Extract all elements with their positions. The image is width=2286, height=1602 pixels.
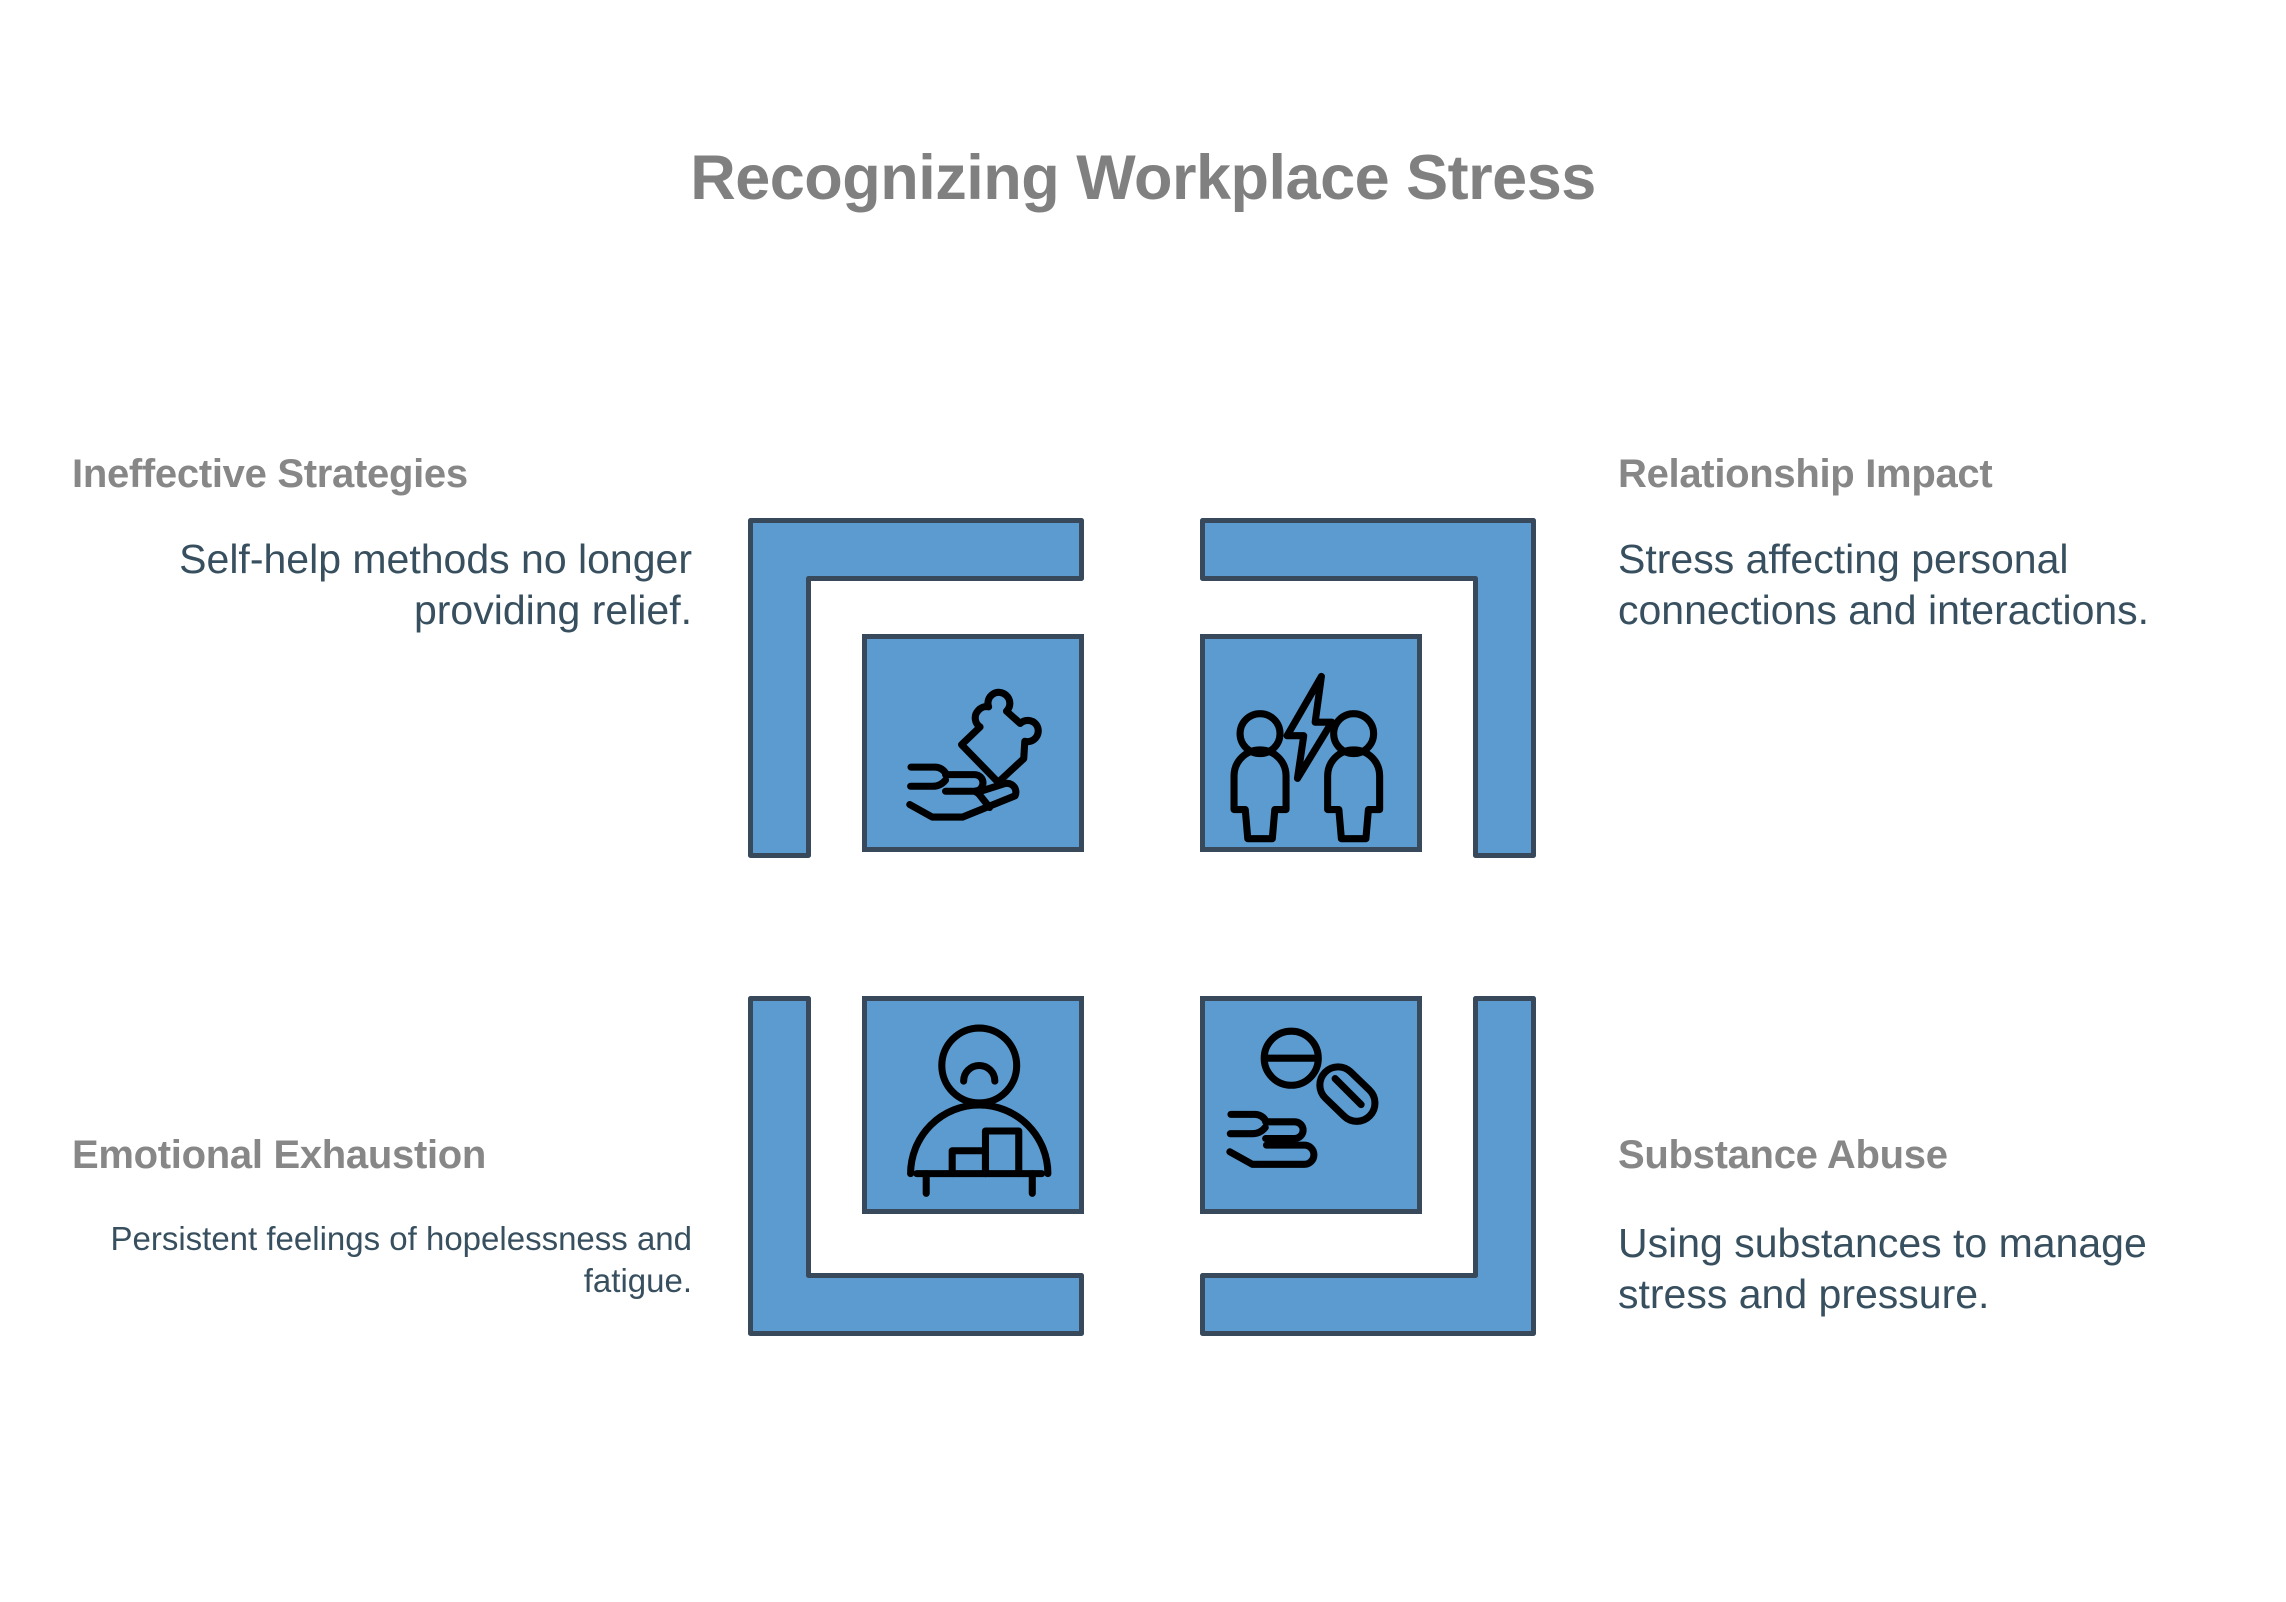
infographic-canvas: Recognizing Workplace Stress Ineffective…	[0, 0, 2286, 1602]
heading-substance-abuse: Substance Abuse	[1618, 1133, 2228, 1178]
quadrant-emotional-exhaustion[interactable]	[748, 996, 1084, 1336]
sad-person-at-desk-icon	[867, 1001, 1079, 1209]
body-relationship-impact: Stress affecting personal connections an…	[1618, 534, 2228, 637]
text-block-emotional-exhaustion: Emotional Exhaustion Persistent feelings…	[72, 1133, 692, 1301]
body-substance-abuse: Using substances to manage stress and pr…	[1618, 1218, 2228, 1321]
heading-emotional-exhaustion: Emotional Exhaustion	[72, 1133, 692, 1178]
quadrant-substance-abuse[interactable]	[1200, 996, 1536, 1336]
quadrant-ineffective-strategies[interactable]	[748, 518, 1084, 858]
text-block-relationship-impact: Relationship Impact Stress affecting per…	[1618, 452, 2228, 637]
quadrant-graphic-group	[748, 518, 1536, 1336]
text-block-ineffective-strategies: Ineffective Strategies Self-help methods…	[72, 452, 692, 637]
body-emotional-exhaustion: Persistent feelings of hopelessness and …	[72, 1218, 692, 1301]
page-title: Recognizing Workplace Stress	[0, 142, 2286, 214]
quadrant-relationship-impact[interactable]	[1200, 518, 1536, 858]
icon-tile-ineffective-strategies[interactable]	[862, 634, 1084, 852]
body-ineffective-strategies: Self-help methods no longer providing re…	[72, 534, 692, 637]
heading-relationship-impact: Relationship Impact	[1618, 452, 2228, 497]
icon-tile-substance-abuse[interactable]	[1200, 996, 1422, 1214]
icon-tile-relationship-impact[interactable]	[1200, 634, 1422, 852]
hand-holding-pills-icon	[1205, 1001, 1417, 1209]
two-people-lightning-conflict-icon	[1205, 639, 1417, 847]
heading-ineffective-strategies: Ineffective Strategies	[72, 452, 692, 497]
text-block-substance-abuse: Substance Abuse Using substances to mana…	[1618, 1133, 2228, 1321]
hand-holding-puzzle-piece-icon	[867, 639, 1079, 847]
icon-tile-emotional-exhaustion[interactable]	[862, 996, 1084, 1214]
